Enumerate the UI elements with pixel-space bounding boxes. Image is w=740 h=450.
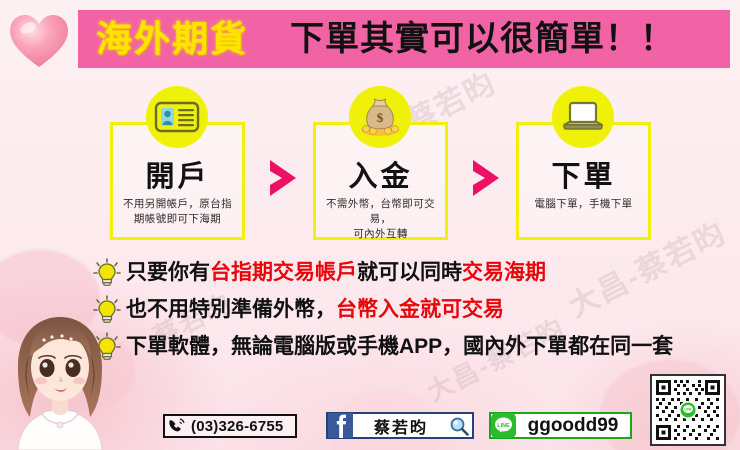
line-id: ggoodd99: [516, 415, 630, 437]
qr-code-icon[interactable]: LINE: [650, 374, 726, 446]
step-description: 不需外幣，台幣即可交易， 可內外互轉: [324, 197, 437, 242]
phone-icon: [166, 416, 186, 436]
facebook-name: 蔡若昀: [353, 414, 449, 438]
benefit-text: 下單軟體，無論電腦版或手機APP，國內外下單都在同一套: [126, 330, 673, 363]
benefit-item-3: 下單軟體，無論電腦版或手機APP，國內外下單都在同一套: [92, 330, 732, 367]
benefit-text-part: 就可以同時: [357, 261, 462, 284]
benefit-text-highlight: 台幣入金就可交易: [336, 298, 504, 321]
magnifier-icon[interactable]: [449, 416, 469, 436]
chevron-right-icon: [266, 158, 300, 198]
step-description: 不用另開帳戶，原台指 期帳號即可下海期: [121, 197, 234, 227]
benefits-list: 只要你有台指期交易帳戶就可以同時交易海期 也不用特別準備外幣，台幣入金就可交易: [92, 256, 732, 367]
lightbulb-icon: [92, 258, 122, 288]
phone-number: (03)326-6755: [191, 418, 283, 435]
svg-text:$: $: [377, 110, 384, 125]
money-bag-icon: $: [357, 97, 403, 137]
facebook-icon: [328, 413, 353, 438]
line-icon: LINE: [491, 413, 516, 438]
step-icon-bubble-2: $: [349, 86, 411, 148]
id-card-icon: [154, 100, 200, 134]
facebook-contact[interactable]: 蔡若昀: [326, 412, 474, 439]
chevron-right-icon: [469, 158, 503, 198]
page-title: 海外期貨: [96, 16, 248, 62]
step-icon-bubble-1: [146, 86, 208, 148]
line-contact[interactable]: LINE ggoodd99: [489, 412, 632, 439]
svg-text:LINE: LINE: [684, 408, 691, 412]
step-title: 下單: [519, 153, 648, 195]
step-title: 入金: [316, 153, 445, 195]
benefit-text-highlight: 台指期交易帳戶: [210, 261, 357, 284]
poster-root: 蔡若昀 大昌-蔡若昀 大昌-蔡若昀 蔡若昀 大昌-蔡若昀 海外期貨 下單其實可以…: [0, 0, 740, 450]
benefit-item-2: 也不用特別準備外幣，台幣入金就可交易: [92, 293, 732, 330]
girl-avatar: [0, 305, 120, 450]
phone-contact[interactable]: (03)326-6755: [163, 414, 297, 438]
benefit-item-1: 只要你有台指期交易帳戶就可以同時交易海期: [92, 256, 732, 293]
header-banner: 海外期貨 下單其實可以很簡單！！: [78, 10, 730, 68]
benefit-text-highlight: 交易海期: [462, 261, 546, 284]
benefit-text-part: 只要你有: [126, 261, 210, 284]
benefit-text: 只要你有台指期交易帳戶就可以同時交易海期: [126, 256, 546, 289]
qr-code-image: LINE: [652, 376, 724, 444]
step-title: 開戶: [113, 153, 242, 195]
heart-icon: [8, 12, 70, 70]
benefit-text-part: 也不用特別準備外幣，: [126, 298, 336, 321]
svg-text:LINE: LINE: [497, 423, 510, 429]
step-description: 電腦下單，手機下單: [527, 197, 640, 212]
page-subtitle: 下單其實可以很簡單！！: [290, 14, 675, 64]
benefit-text: 也不用特別準備外幣，台幣入金就可交易: [126, 293, 504, 326]
laptop-icon: [561, 99, 605, 135]
step-icon-bubble-3: [552, 86, 614, 148]
